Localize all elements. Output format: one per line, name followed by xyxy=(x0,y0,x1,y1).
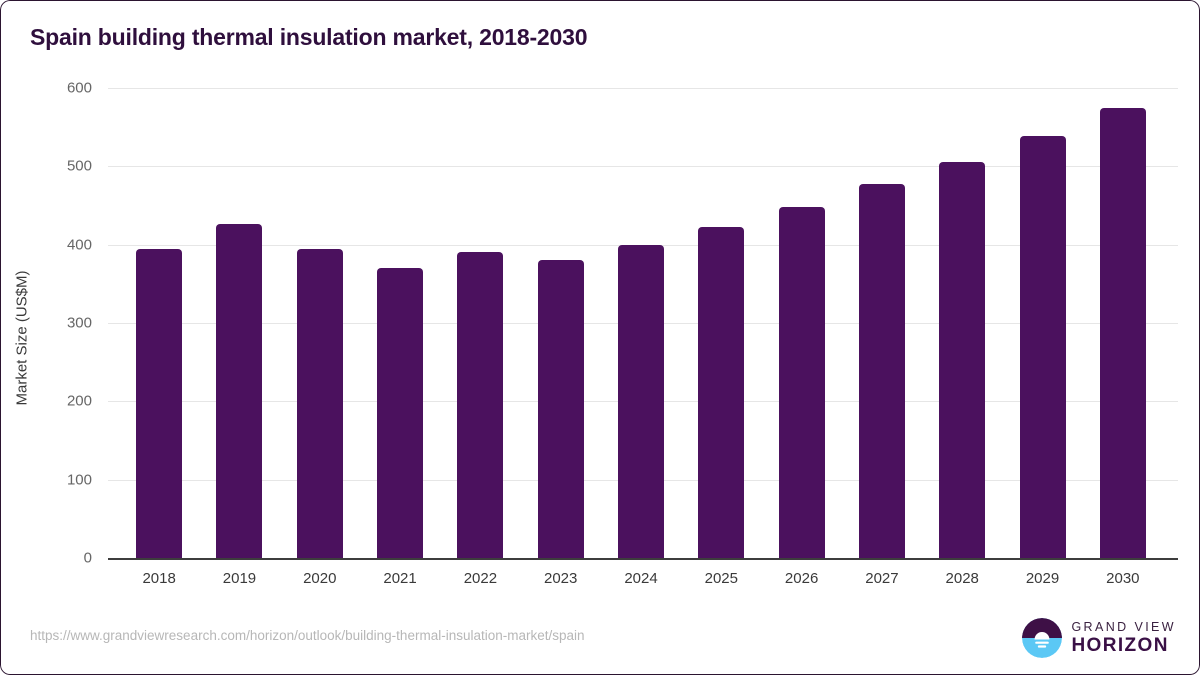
bar[interactable] xyxy=(538,260,584,558)
bar-group: 2028 xyxy=(939,88,985,558)
bar[interactable] xyxy=(779,207,825,558)
logo-wordmark: GRAND VIEW HORIZON xyxy=(1071,621,1176,656)
x-axis-tick-label: 2027 xyxy=(865,570,898,587)
bar-group: 2025 xyxy=(698,88,744,558)
x-axis-tick-label: 2020 xyxy=(303,570,336,587)
x-axis-tick-label: 2019 xyxy=(223,570,256,587)
bar-group: 2020 xyxy=(297,88,343,558)
x-axis-line xyxy=(108,558,1178,560)
x-axis-tick-label: 2022 xyxy=(464,570,497,587)
bar-group: 2024 xyxy=(618,88,664,558)
y-axis-tick-label: 600 xyxy=(22,80,92,97)
x-axis-tick-label: 2021 xyxy=(383,570,416,587)
logo-top-word: GRAND VIEW xyxy=(1071,621,1176,634)
x-axis-tick-label: 2023 xyxy=(544,570,577,587)
bar[interactable] xyxy=(1100,108,1146,558)
x-axis-tick-label: 2026 xyxy=(785,570,818,587)
bar[interactable] xyxy=(377,268,423,558)
bar-group: 2029 xyxy=(1020,88,1066,558)
plot-area: 0100200300400500600 20182019202020212022… xyxy=(108,88,1178,558)
brand-logo: GRAND VIEW HORIZON xyxy=(1022,618,1176,658)
source-url[interactable]: https://www.grandviewresearch.com/horizo… xyxy=(30,628,585,643)
x-axis-tick-label: 2030 xyxy=(1106,570,1139,587)
bar[interactable] xyxy=(457,252,503,558)
bar-group: 2018 xyxy=(136,88,182,558)
grand-view-horizon-logo-mark xyxy=(1022,618,1062,658)
page-title: Spain building thermal insulation market… xyxy=(30,24,587,51)
bar-group: 2026 xyxy=(779,88,825,558)
bar[interactable] xyxy=(618,245,664,558)
bar[interactable] xyxy=(859,184,905,558)
bar-group: 2022 xyxy=(457,88,503,558)
bar-group: 2030 xyxy=(1100,88,1146,558)
y-axis-tick-label: 500 xyxy=(22,158,92,175)
y-axis-tick-label: 0 xyxy=(22,550,92,567)
bar-group: 2023 xyxy=(538,88,584,558)
y-axis-tick-label: 300 xyxy=(22,315,92,332)
y-axis-title: Market Size (US$M) xyxy=(14,270,31,405)
x-axis-tick-label: 2025 xyxy=(705,570,738,587)
bar[interactable] xyxy=(1020,136,1066,558)
x-axis-tick-label: 2024 xyxy=(624,570,657,587)
chart-page: Spain building thermal insulation market… xyxy=(0,0,1200,675)
x-axis-tick-label: 2028 xyxy=(946,570,979,587)
bar-series: 2018201920202021202220232024202520262027… xyxy=(108,88,1178,558)
bar[interactable] xyxy=(216,224,262,558)
bar[interactable] xyxy=(939,162,985,558)
x-axis-tick-label: 2018 xyxy=(142,570,175,587)
bar[interactable] xyxy=(297,249,343,558)
bar-group: 2019 xyxy=(216,88,262,558)
bar[interactable] xyxy=(136,249,182,558)
bar-group: 2021 xyxy=(377,88,423,558)
y-axis-tick-label: 100 xyxy=(22,471,92,488)
x-axis-tick-label: 2029 xyxy=(1026,570,1059,587)
logo-bottom-word: HORIZON xyxy=(1071,636,1176,655)
logo-circle-icon xyxy=(1022,618,1062,658)
y-axis-tick-label: 200 xyxy=(22,393,92,410)
bar[interactable] xyxy=(698,227,744,558)
y-axis-tick-label: 400 xyxy=(22,236,92,253)
bar-group: 2027 xyxy=(859,88,905,558)
